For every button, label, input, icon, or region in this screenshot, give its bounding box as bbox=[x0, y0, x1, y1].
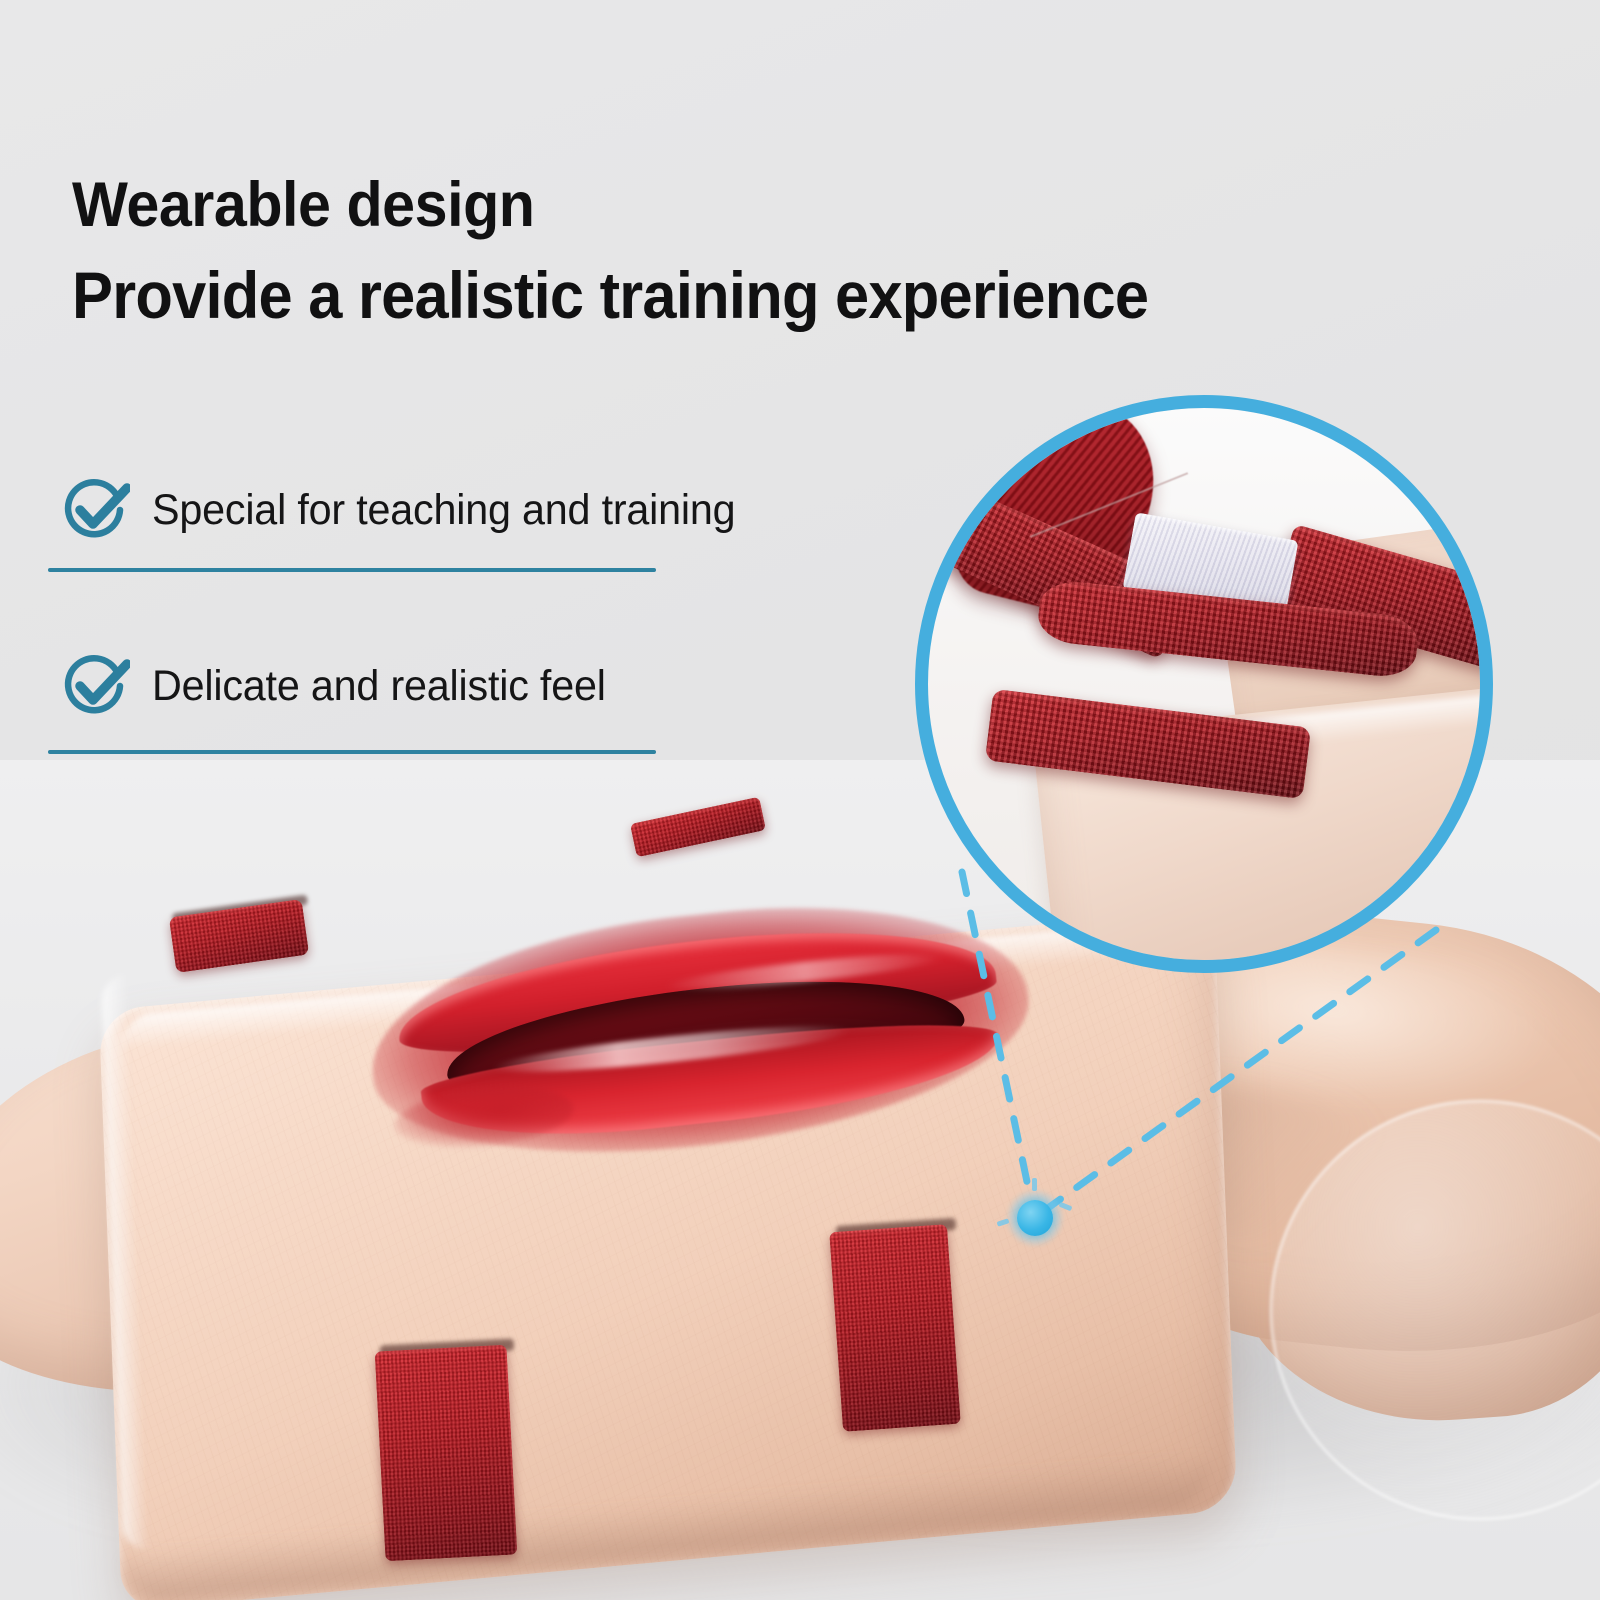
check-circle-icon bbox=[60, 651, 130, 721]
feature-divider bbox=[48, 750, 656, 754]
feature-label: Special for teaching and training bbox=[152, 486, 735, 535]
focus-core-dot bbox=[1017, 1200, 1053, 1236]
velcro-strap-lower-right bbox=[829, 1224, 961, 1432]
feature-label: Delicate and realistic feel bbox=[152, 662, 606, 711]
check-circle-icon bbox=[60, 475, 130, 545]
headline-line-1: Wearable design bbox=[72, 172, 1388, 239]
feature-divider bbox=[48, 568, 656, 572]
velcro-strap-lower-left bbox=[375, 1345, 518, 1562]
headline-block: Wearable design Provide a realistic trai… bbox=[72, 172, 1472, 331]
callout-image bbox=[928, 408, 1480, 960]
poster-canvas: Wearable design Provide a realistic trai… bbox=[0, 0, 1600, 1600]
focus-tick bbox=[1032, 1178, 1037, 1191]
headline-line-2: Provide a realistic training experience bbox=[72, 261, 1374, 331]
feature-item-teaching-training: Special for teaching and training bbox=[48, 462, 688, 638]
focus-point-marker bbox=[1007, 1190, 1063, 1246]
magnified-callout-circle bbox=[915, 395, 1493, 973]
